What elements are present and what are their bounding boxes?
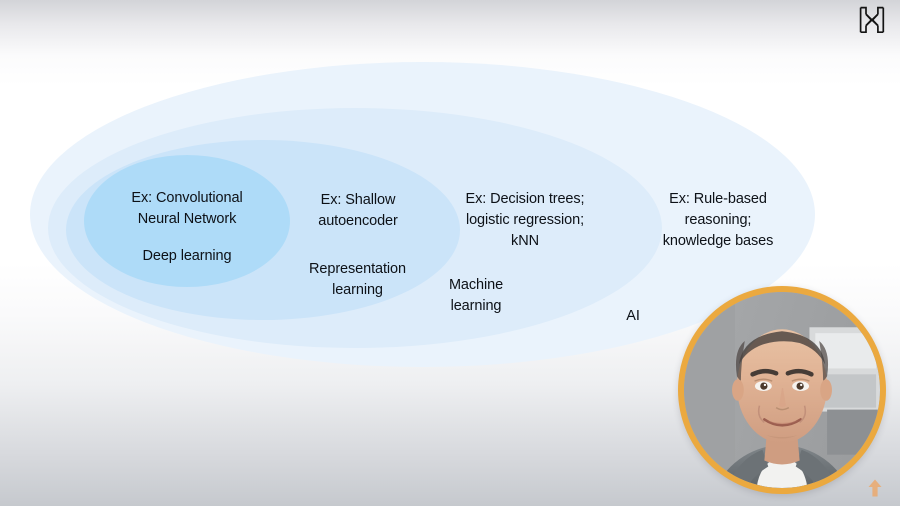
example-label-machine-learning: Ex: Decision trees; logistic regression;… <box>440 189 610 252</box>
slide-canvas: Ex: Convolutional Neural Network Deep le… <box>0 0 900 506</box>
example-label-representation-learning: Ex: Shallow autoencoder <box>282 190 434 232</box>
presenter-webcam-bubble[interactable] <box>678 286 886 494</box>
presenter-avatar <box>684 292 880 488</box>
ring-label-deep-learning: Deep learning <box>108 246 266 267</box>
stylized-x-logo-icon <box>857 5 887 35</box>
example-label-deep-learning: Ex: Convolutional Neural Network <box>108 188 266 230</box>
ring-label-ai: AI <box>600 306 666 327</box>
orange-up-arrow-icon[interactable] <box>867 478 883 498</box>
example-label-ai: Ex: Rule-based reasoning; knowledge base… <box>632 189 804 252</box>
ring-label-machine-learning: Machine learning <box>402 275 550 317</box>
